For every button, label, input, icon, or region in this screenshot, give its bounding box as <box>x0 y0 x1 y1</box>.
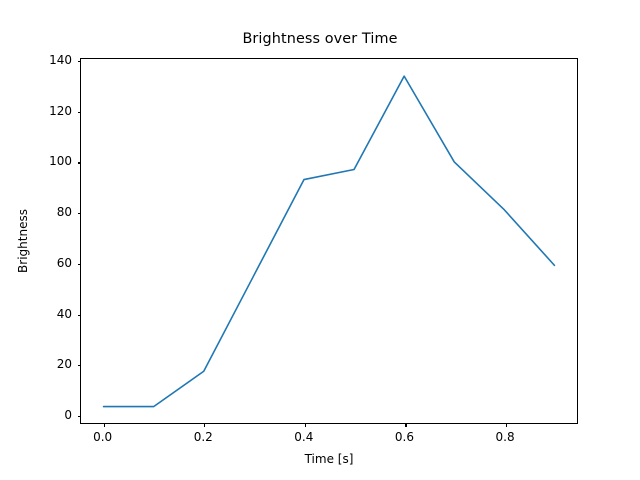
y-tick-label: 140 <box>49 53 72 67</box>
chart-title: Brightness over Time <box>0 31 640 47</box>
y-tick-mark <box>78 112 82 113</box>
line-plot <box>81 59 577 423</box>
y-tick-mark <box>78 315 82 316</box>
x-tick-label: 0.0 <box>93 430 112 444</box>
y-tick-mark <box>78 365 82 366</box>
x-tick-mark <box>405 423 406 427</box>
x-axis-label: Time [s] <box>80 452 578 466</box>
x-tick-label: 0.2 <box>194 430 213 444</box>
y-tick-label: 0 <box>64 408 72 422</box>
x-tick-label: 0.4 <box>294 430 313 444</box>
y-tick-mark <box>78 264 82 265</box>
x-tick-mark <box>104 423 105 427</box>
y-tick-mark <box>78 162 82 163</box>
y-tick-label: 100 <box>49 154 72 168</box>
x-tick-label: 0.8 <box>496 430 515 444</box>
y-tick-label: 20 <box>57 357 72 371</box>
y-tick-mark <box>78 61 82 62</box>
chart-figure: Brightness over Time 0.00.20.40.60.80204… <box>0 0 640 480</box>
y-tick-label: 60 <box>57 256 72 270</box>
y-tick-mark <box>78 416 82 417</box>
plot-axes-area <box>80 58 578 424</box>
y-tick-label: 40 <box>57 307 72 321</box>
data-series-line <box>104 76 555 406</box>
x-tick-mark <box>305 423 306 427</box>
y-tick-label: 80 <box>57 205 72 219</box>
x-tick-mark <box>506 423 507 427</box>
x-tick-label: 0.6 <box>395 430 414 444</box>
y-axis-label: Brightness <box>16 141 30 341</box>
y-tick-mark <box>78 213 82 214</box>
y-tick-label: 120 <box>49 104 72 118</box>
x-tick-mark <box>204 423 205 427</box>
